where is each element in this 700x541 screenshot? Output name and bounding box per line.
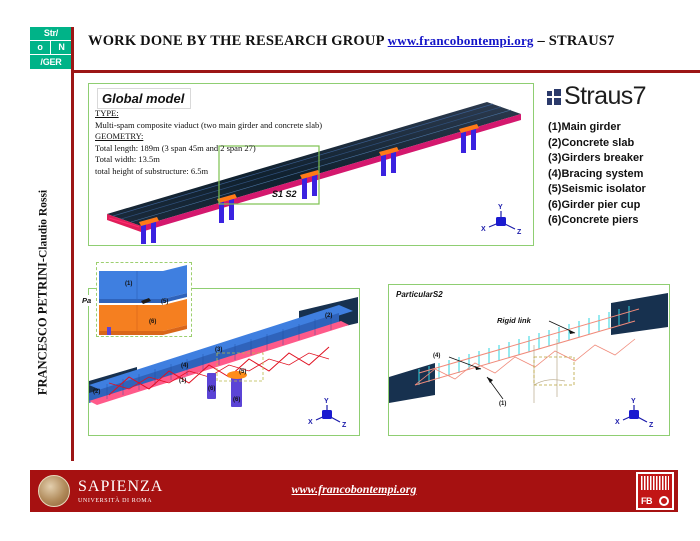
legend-item: (4)Bracing system bbox=[548, 167, 646, 183]
author-name-mixed: Claudio Rossi bbox=[38, 190, 50, 258]
pier-group bbox=[217, 194, 237, 223]
slide-root: Str/ o N /GER WORK DONE BY THE RESEARCH … bbox=[0, 0, 700, 541]
s1-label-2: (2) bbox=[93, 389, 100, 395]
logo-line-2a: o bbox=[30, 41, 51, 55]
s1-label-5: (5) bbox=[239, 369, 246, 375]
svg-text:Y: Y bbox=[324, 398, 329, 405]
s1-inset-detail: (1) (5) (6) bbox=[96, 262, 192, 337]
logo-line-2b: N bbox=[51, 41, 72, 55]
svg-text:Z: Z bbox=[649, 422, 654, 429]
panel-particular-s2: Rigid link (4) (1) Y X Z bbox=[388, 284, 670, 436]
s1s2-region-label: S1 S2 bbox=[272, 189, 297, 199]
title-prefix: WORK DONE BY THE RESEARCH GROUP bbox=[88, 33, 384, 49]
author-name-caps: FRANCESCO PETRINI- bbox=[36, 258, 50, 395]
legend-item: (3)Girders breaker bbox=[548, 151, 646, 167]
straus7-logo-icon bbox=[547, 89, 561, 105]
svg-text:Z: Z bbox=[517, 229, 522, 236]
legend-item: (6)Girder pier cup bbox=[548, 198, 646, 214]
s1-label-4: (4) bbox=[181, 363, 188, 369]
s1-label-1: (1) bbox=[179, 378, 186, 384]
legend-item: (1)Main girder bbox=[548, 120, 646, 136]
logo-line-3: /GER bbox=[30, 55, 72, 69]
particular-s2-render: Rigid link (4) (1) Y X Z bbox=[389, 285, 668, 434]
pier-group bbox=[379, 147, 399, 176]
axis-triad: Y X Z bbox=[308, 398, 347, 429]
s1-label-2b: (2) bbox=[325, 313, 332, 319]
spec-total-length: Total length: 189m (3 span 45m and 2 spa… bbox=[95, 143, 322, 155]
svg-text:Z: Z bbox=[342, 422, 347, 429]
svg-text:X: X bbox=[615, 419, 620, 426]
s2-dashed-box bbox=[534, 357, 574, 385]
page-title: WORK DONE BY THE RESEARCH GROUP www.fran… bbox=[88, 33, 615, 50]
component-legend: (1)Main girder (2)Concrete slab (3)Girde… bbox=[548, 120, 646, 229]
title-suffix: – STRAUS7 bbox=[537, 33, 614, 49]
left-rule bbox=[71, 27, 74, 461]
panel-particular-s1-caption: Pa bbox=[80, 295, 93, 306]
s1-inset-render: (1) (5) (6) bbox=[97, 263, 190, 335]
footer-bar: SAPIENZA UNIVERSITÀ DI ROMA www.francobo… bbox=[30, 470, 678, 512]
s1-label-3: (3) bbox=[215, 347, 222, 353]
logo-line-1: Str/ bbox=[30, 27, 72, 41]
rigid-link-label: Rigid link bbox=[497, 316, 532, 325]
legend-item: (6)Concrete piers bbox=[548, 213, 646, 229]
straus7-brand: Straus7 bbox=[547, 84, 646, 109]
footer-url-link[interactable]: www.francobontempi.org bbox=[30, 482, 678, 497]
global-model-specs: TYPE: Multi-spam composite viaduct (two … bbox=[95, 108, 322, 177]
svg-text:Y: Y bbox=[498, 204, 503, 211]
inset-label-1: (1) bbox=[125, 281, 132, 287]
legend-item: (5)Seismic isolator bbox=[548, 182, 646, 198]
panel-particular-s2-caption: ParticularS2 bbox=[394, 289, 445, 300]
legend-item: (2)Concrete slab bbox=[548, 136, 646, 152]
svg-text:Y: Y bbox=[631, 398, 636, 405]
fbo-logo-circle bbox=[659, 496, 669, 506]
author-vertical-text: FRANCESCO PETRINI-Claudio Rossi bbox=[36, 168, 51, 418]
spec-type-label: TYPE: bbox=[95, 108, 119, 118]
s1-label-6b: (6) bbox=[233, 397, 240, 403]
svg-text:X: X bbox=[481, 226, 486, 233]
s1-label-6a: (6) bbox=[208, 386, 215, 392]
fbo-logo-icon: FB bbox=[636, 472, 674, 510]
s2-label-4: (4) bbox=[433, 353, 440, 359]
straus7-wordmark: Straus7 bbox=[564, 84, 646, 109]
spec-substructure-height: total height of substructure: 6.5m bbox=[95, 166, 322, 178]
spec-geometry-label: GEOMETRY: bbox=[95, 131, 143, 141]
s2-label-1: (1) bbox=[499, 401, 506, 407]
panel-global-caption: Global model bbox=[97, 88, 191, 109]
title-url-link[interactable]: www.francobontempi.org bbox=[388, 33, 534, 48]
spec-type-value: Multi-spam composite viaduct (two main g… bbox=[95, 120, 322, 132]
inset-label-5: (5) bbox=[161, 299, 168, 305]
svg-text:X: X bbox=[308, 419, 313, 426]
axis-triad: Y X Z bbox=[615, 398, 654, 429]
fbo-logo-text: FB bbox=[641, 497, 652, 506]
inset-label-6: (6) bbox=[149, 319, 156, 325]
pier-group bbox=[459, 124, 479, 153]
axis-triad: Y X Z bbox=[481, 204, 522, 236]
spec-total-width: Total width: 13.5m bbox=[95, 154, 322, 166]
header-divider bbox=[71, 70, 700, 73]
sapienza-subtitle: UNIVERSITÀ DI ROMA bbox=[78, 498, 163, 504]
stronger-logo: Str/ o N /GER bbox=[30, 27, 72, 69]
